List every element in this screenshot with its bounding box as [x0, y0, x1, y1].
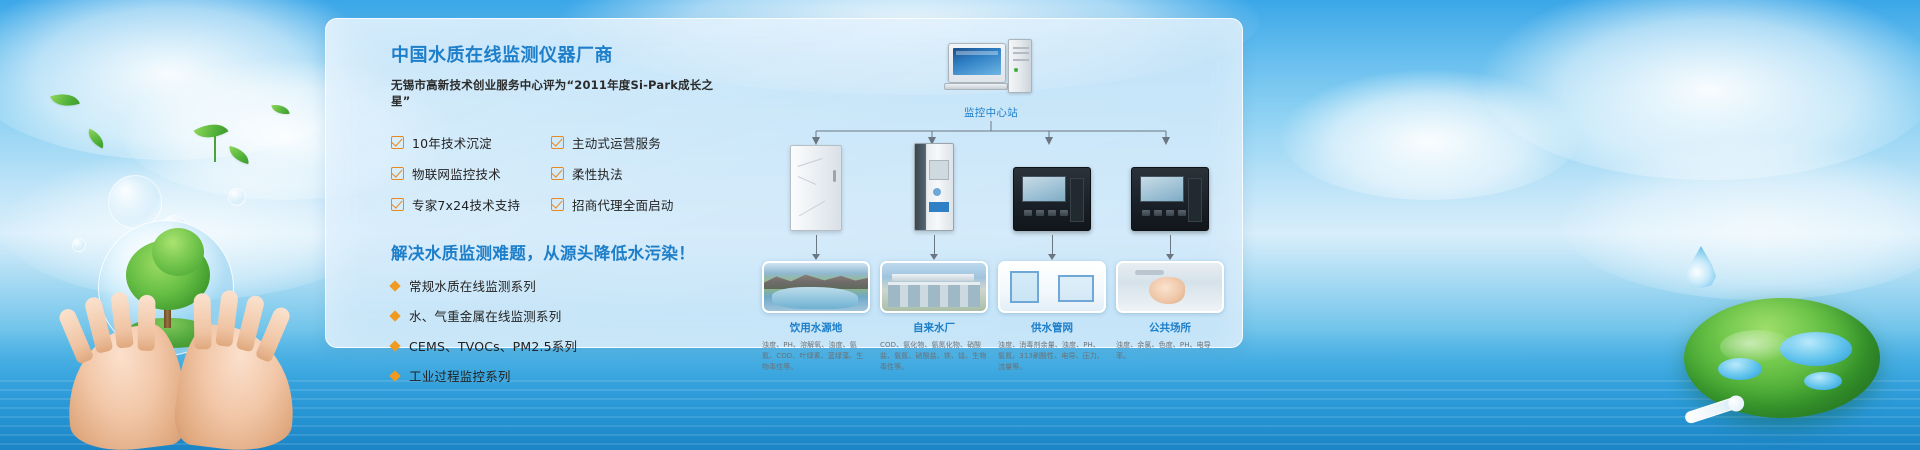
controller-panel-icon	[1116, 141, 1224, 231]
page-title: 中国水质在线监测仪器厂商	[391, 41, 731, 67]
cloud-decoration	[0, 150, 380, 300]
page-subtitle: 无锡市高新技术创业服务中心评为“2011年度Si-Park成长之星”	[391, 77, 731, 109]
left-palm-icon	[59, 321, 191, 450]
scene-card[interactable]: 自来水厂 COD、氨化物、氨氮化物、硝酸盐、氨氮、硝酸盐、铁、锰、生物毒性等。	[880, 261, 988, 373]
feature-label: 10年技术沉淀	[412, 133, 492, 152]
sprout-icon	[214, 136, 216, 162]
feature-label: 柔性执法	[572, 164, 623, 183]
device-column	[1116, 141, 1224, 255]
earth-ocean-shape	[1804, 372, 1842, 390]
feature-label: 招商代理全面启动	[572, 195, 674, 214]
application-scene-row: 饮用水源地 浊度、PH、溶解氧、浊度、氨氮、COD、叶绿素、蓝绿藻、生物毒性等。…	[762, 261, 1224, 373]
scene-title: 供水管网	[998, 320, 1106, 335]
earth-ocean-shape	[1718, 358, 1762, 380]
leaf-icon	[227, 146, 251, 164]
scene-title: 公共场所	[1116, 320, 1224, 335]
thermometer-icon	[1684, 395, 1743, 424]
tree-crown-icon	[126, 240, 210, 310]
earth-ocean-shape	[1780, 332, 1852, 366]
bubble-decoration	[72, 238, 86, 252]
checkbox-checked-icon	[551, 167, 564, 180]
scene-description: 浊度、消毒剂余量、浊度、PH、氨氮、313刷酸性、电导、压力、流量等。	[998, 340, 1106, 373]
hero-content-panel: 中国水质在线监测仪器厂商 无锡市高新技术创业服务中心评为“2011年度Si-Pa…	[325, 18, 1243, 348]
tree-trunk-icon	[164, 298, 171, 328]
cloud-decoration	[1480, 0, 1920, 180]
device-column	[998, 141, 1106, 255]
list-item[interactable]: 水、气重金属在线监测系列	[391, 306, 731, 325]
scene-title: 饮用水源地	[762, 320, 870, 335]
scene-title: 自来水厂	[880, 320, 988, 335]
leaf-icon	[50, 88, 80, 111]
cloud-decoration	[1280, 70, 1580, 200]
feature-item: 10年技术沉淀	[391, 133, 551, 152]
leaf-icon	[194, 116, 229, 147]
section-title: 解决水质监测难题，从源头降低水污染！	[391, 240, 731, 264]
series-label: 工业过程监控系列	[409, 366, 511, 385]
bubble-decoration	[228, 188, 246, 206]
monitor-screen	[953, 48, 1001, 75]
checkbox-checked-icon	[391, 167, 404, 180]
checkbox-checked-icon	[551, 136, 564, 149]
feature-item: 招商代理全面启动	[551, 195, 711, 214]
grass-mound-icon	[122, 318, 214, 348]
arrow-down-icon	[1052, 235, 1053, 255]
earth-highlight	[1720, 330, 1794, 364]
leaf-icon	[84, 128, 108, 148]
glass-sphere-icon	[98, 220, 234, 356]
tree-crown-icon	[152, 228, 204, 276]
hands-holding-tree-illustration	[60, 210, 310, 450]
right-palm-icon	[171, 321, 303, 450]
keyboard-icon	[944, 83, 1008, 90]
feature-item: 柔性执法	[551, 164, 711, 183]
monitoring-center-label: 监控中心站	[926, 105, 1056, 120]
list-item[interactable]: 工业过程监控系列	[391, 366, 731, 385]
scene-description: 浊度、余氯、色度、PH、电导率。	[1116, 340, 1224, 362]
series-label: CEMS、TVOCs、PM2.5系列	[409, 336, 577, 355]
diamond-bullet-icon	[389, 310, 400, 321]
device-row	[762, 141, 1224, 255]
scene-description: COD、氨化物、氨氮化物、硝酸盐、氨氮、硝酸盐、铁、锰、生物毒性等。	[880, 340, 988, 373]
analyzer-cabinet-icon	[880, 141, 988, 231]
checkbox-checked-icon	[391, 136, 404, 149]
diamond-bullet-icon	[389, 280, 400, 291]
waterworks-photo-icon	[880, 261, 988, 313]
cloud-decoration	[1560, 140, 1920, 300]
water-cabinet-icon	[762, 141, 870, 231]
diamond-bullet-icon	[389, 370, 400, 381]
product-series-list: 常规水质在线监测系列 水、气重金属在线监测系列 CEMS、TVOCs、PM2.5…	[391, 276, 731, 385]
bubble-decoration	[108, 175, 162, 229]
computer-icon	[948, 43, 1034, 99]
arrow-down-icon	[1170, 235, 1171, 255]
earth-globe-icon	[1684, 298, 1880, 418]
arrow-down-icon	[816, 235, 817, 255]
feature-item: 主动式运营服务	[551, 133, 711, 152]
bubble-decoration	[160, 215, 188, 243]
panel-left-column: 中国水质在线监测仪器厂商 无锡市高新技术创业服务中心评为“2011年度Si-Pa…	[391, 41, 731, 396]
checkbox-checked-icon	[391, 198, 404, 211]
scene-card[interactable]: 饮用水源地 浊度、PH、溶解氧、浊度、氨氮、COD、叶绿素、蓝绿藻、生物毒性等。	[762, 261, 870, 373]
water-drop-icon	[1686, 246, 1716, 288]
power-led-icon	[1014, 68, 1018, 72]
checkbox-checked-icon	[551, 198, 564, 211]
cloud-decoration	[0, 0, 380, 160]
feature-label: 主动式运营服务	[572, 133, 661, 152]
list-item[interactable]: CEMS、TVOCs、PM2.5系列	[391, 336, 731, 355]
feature-item: 物联网监控技术	[391, 164, 551, 183]
river-photo-icon	[762, 261, 870, 313]
system-topology-diagram: 监控中心站	[756, 33, 1226, 345]
feature-label: 专家7x24技术支持	[412, 195, 520, 214]
series-label: 水、气重金属在线监测系列	[409, 306, 561, 325]
scene-card[interactable]: 供水管网 浊度、消毒剂余量、浊度、PH、氨氮、313刷酸性、电导、压力、流量等。	[998, 261, 1106, 373]
device-column	[880, 141, 988, 255]
monitor-icon	[948, 43, 1006, 83]
scene-card[interactable]: 公共场所 浊度、余氯、色度、PH、电导率。	[1116, 261, 1224, 373]
tap-photo-icon	[1116, 261, 1224, 313]
monitoring-center-node: 监控中心站	[926, 43, 1056, 120]
diamond-bullet-icon	[389, 340, 400, 351]
controller-panel-icon	[998, 141, 1106, 231]
scene-description: 浊度、PH、溶解氧、浊度、氨氮、COD、叶绿素、蓝绿藻、生物毒性等。	[762, 340, 870, 373]
pipe-network-photo-icon	[998, 261, 1106, 313]
feature-checklist: 10年技术沉淀 主动式运营服务 物联网监控技术 柔性执法 专家7x24技术支持 …	[391, 133, 731, 214]
feature-label: 物联网监控技术	[412, 164, 501, 183]
feature-item: 专家7x24技术支持	[391, 195, 551, 214]
arrow-down-icon	[934, 235, 935, 255]
green-earth-illustration	[1666, 272, 1894, 432]
list-item[interactable]: 常规水质在线监测系列	[391, 276, 731, 295]
series-label: 常规水质在线监测系列	[409, 276, 536, 295]
device-column	[762, 141, 870, 255]
leaf-icon	[271, 103, 289, 116]
pc-tower-icon	[1008, 39, 1032, 93]
